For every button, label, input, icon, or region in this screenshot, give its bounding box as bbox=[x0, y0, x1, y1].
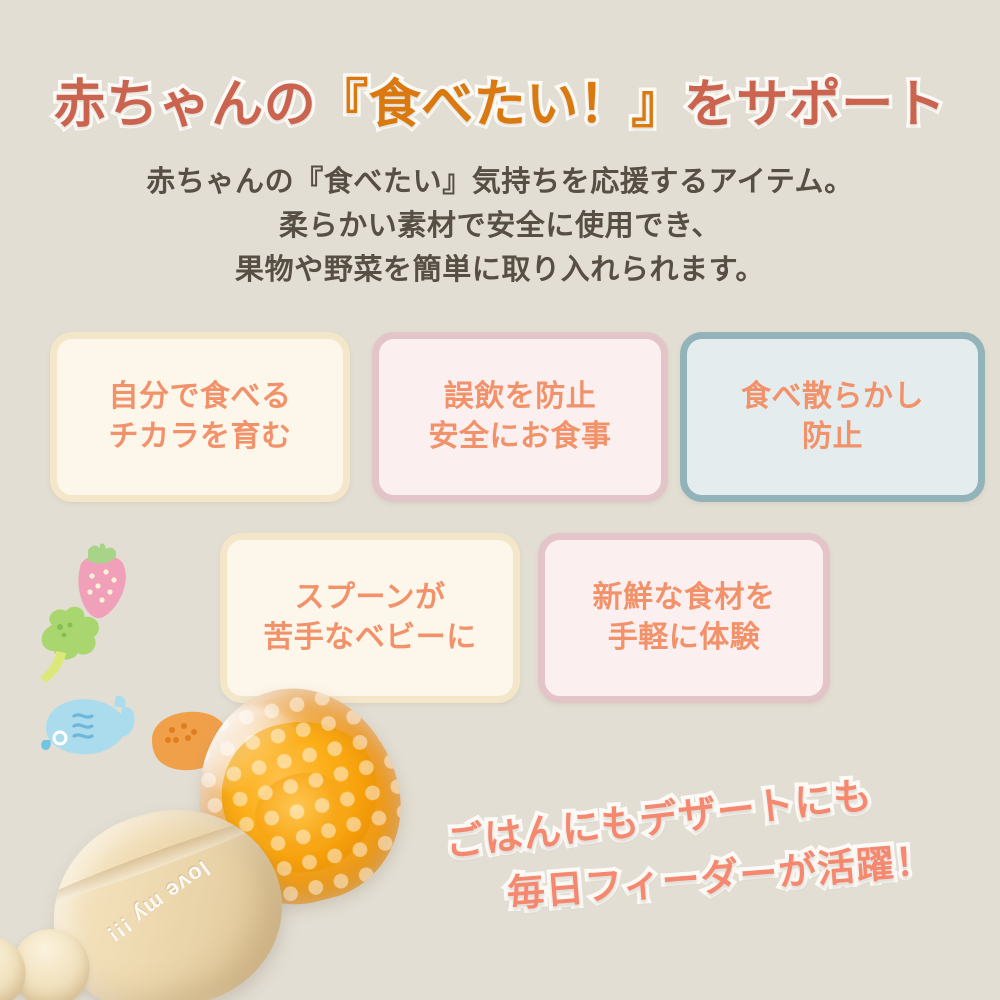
feature-box-fresh-food: 新鮮な食材を 手軽に体験 bbox=[538, 533, 830, 703]
bottom-tagline: ごはんにもデザートにも 毎日フィーダーが活躍！ bbox=[430, 782, 990, 922]
feature-box-choking-prevention: 誤飲を防止 安全にお食事 bbox=[372, 332, 668, 502]
feature-box-line: 手軽に体験 bbox=[593, 618, 776, 658]
feature-box-line: 防止 bbox=[741, 417, 924, 457]
feature-box-line: 食べ散らかし bbox=[741, 377, 924, 417]
headline-part-2: 『食べたい！』 bbox=[316, 76, 684, 134]
headline-part-3: をサポート bbox=[684, 76, 947, 134]
feature-box-line: スプーンが bbox=[263, 578, 477, 618]
feature-box-line: チカラを育む bbox=[109, 417, 292, 457]
subtitle-line-2: 柔らかい素材で安全に使用でき、 bbox=[0, 204, 1000, 248]
feature-box-line: 安全にお食事 bbox=[429, 417, 612, 457]
subtitle-line-3: 果物や野菜を簡単に取り入れられます。 bbox=[0, 248, 1000, 292]
headline-part-1: 赤ちゃんの bbox=[54, 76, 317, 134]
subtitle-line-1: 赤ちゃんの『食べたい』気持ちを応援するアイテム。 bbox=[0, 160, 1000, 204]
feature-box-self-feeding: 自分で食べる チカラを育む bbox=[50, 332, 350, 502]
feature-box-line: 新鮮な食材を bbox=[593, 578, 776, 618]
feature-box-line: 自分で食べる bbox=[109, 377, 292, 417]
promo-page: 赤ちゃんの『食べたい！』をサポート 赤ちゃんの『食べたい』気持ちを応援するアイテ… bbox=[0, 0, 1000, 1000]
subtitle: 赤ちゃんの『食べたい』気持ちを応援するアイテム。 柔らかい素材で安全に使用でき、… bbox=[0, 160, 1000, 292]
product-image: love my !!! bbox=[0, 660, 460, 1000]
page-title: 赤ちゃんの『食べたい！』をサポート bbox=[0, 78, 1000, 133]
feature-box-line: 誤飲を防止 bbox=[429, 377, 612, 417]
feature-box-line: 苦手なベビーに bbox=[263, 618, 477, 658]
feature-box-mess-prevention: 食べ散らかし 防止 bbox=[680, 332, 985, 502]
